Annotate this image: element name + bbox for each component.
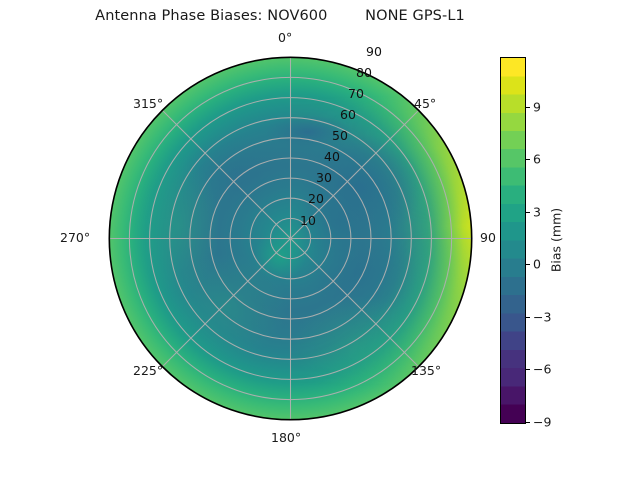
colorbar[interactable]: 9 6 3 0 −3 −6 −9 xyxy=(500,57,526,424)
r-tick-10: 10 xyxy=(300,213,316,228)
colorbar-ticklabel-6: 6 xyxy=(533,152,541,167)
r-tick-20: 20 xyxy=(308,191,324,206)
colorbar-tick-m3 xyxy=(526,317,530,318)
r-tick-70: 70 xyxy=(348,86,364,101)
colorbar-tick-m9 xyxy=(526,422,530,423)
r-tick-60: 60 xyxy=(340,107,356,122)
colorbar-tick-3 xyxy=(526,212,530,213)
colorbar-ticklabel-m9: −9 xyxy=(533,415,551,430)
r-tick-90: 90 xyxy=(366,44,382,59)
r-tick-50: 50 xyxy=(332,128,348,143)
colorbar-axis-label: Bias (mm) xyxy=(549,208,564,272)
r-tick-40: 40 xyxy=(324,149,340,164)
theta-tick-0: 0° xyxy=(278,30,292,45)
colorbar-ticklabel-9: 9 xyxy=(533,100,541,115)
r-tick-30: 30 xyxy=(316,170,332,185)
colorbar-tick-6 xyxy=(526,159,530,160)
figure-canvas: Antenna Phase Biases: NOV600 NONE GPS-L1 xyxy=(0,0,640,480)
colorbar-gradient xyxy=(500,57,526,424)
colorbar-ticklabel-m6: −6 xyxy=(533,362,551,377)
theta-tick-225: 225° xyxy=(133,363,163,378)
theta-tick-90: 90 xyxy=(480,230,496,245)
colorbar-ticklabel-0: 0 xyxy=(533,257,541,272)
colorbar-tick-m6 xyxy=(526,369,530,370)
theta-tick-135: 135° xyxy=(411,363,441,378)
colorbar-ticklabel-3: 3 xyxy=(533,205,541,220)
theta-tick-315: 315° xyxy=(133,96,163,111)
colorbar-ticklabel-m3: −3 xyxy=(533,310,551,325)
theta-tick-180: 180° xyxy=(271,430,301,445)
theta-tick-270: 270° xyxy=(60,230,90,245)
colorbar-tick-9 xyxy=(526,107,530,108)
theta-tick-45: 45° xyxy=(414,96,436,111)
polar-axes[interactable]: 0° 45° 90 135° 180° 225° 270° 315° 10 20… xyxy=(108,56,473,421)
page-title: Antenna Phase Biases: NOV600 NONE GPS-L1 xyxy=(0,8,560,24)
r-tick-80: 80 xyxy=(356,65,372,80)
colorbar-tick-0 xyxy=(526,264,530,265)
